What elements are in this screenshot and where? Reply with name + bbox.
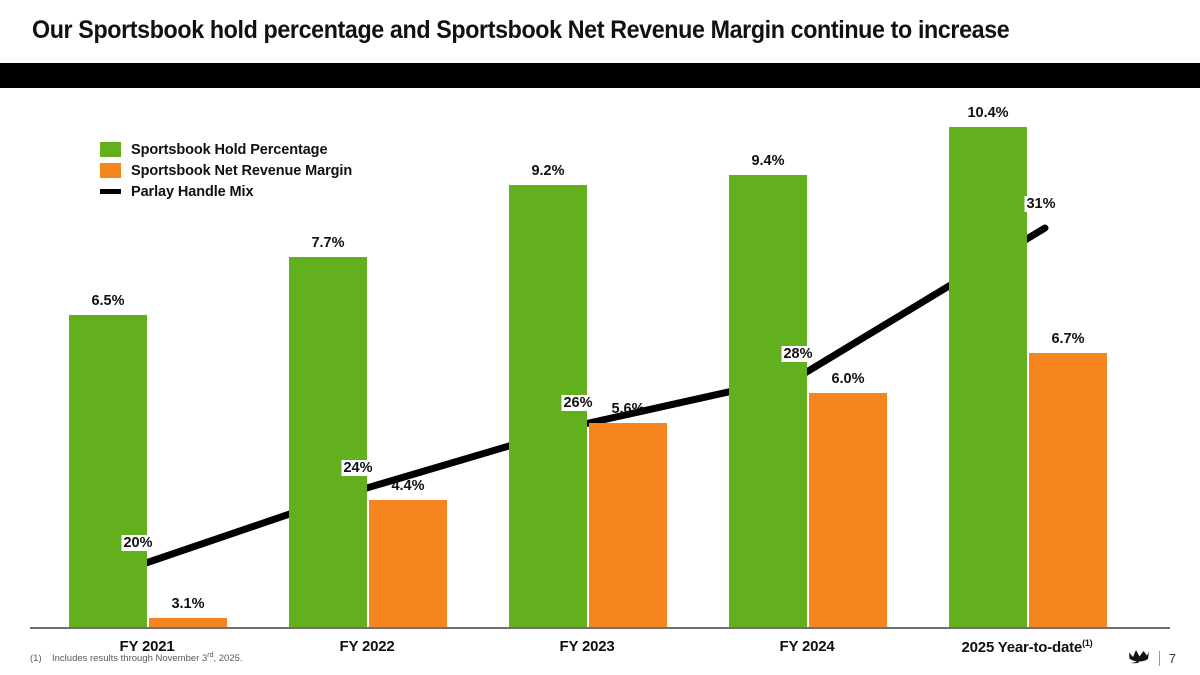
line-value-parlay-handle-mix: 28% xyxy=(781,346,814,362)
plot-area: Sportsbook Hold PercentageSportsbook Net… xyxy=(30,95,1170,628)
title-divider-bar xyxy=(0,63,1200,88)
bar-hold-percentage[interactable] xyxy=(69,315,147,628)
chart-legend: Sportsbook Hold PercentageSportsbook Net… xyxy=(100,139,430,202)
line-value-parlay-handle-mix: 24% xyxy=(341,460,374,476)
x-axis-line xyxy=(30,627,1170,629)
legend-swatch-icon xyxy=(100,142,121,157)
bar-net-revenue-margin[interactable] xyxy=(1029,353,1107,627)
x-axis-label: FY 2024 xyxy=(779,638,834,655)
bar-value-hold-percentage: 6.5% xyxy=(91,293,124,309)
bar-value-hold-percentage: 10.4% xyxy=(967,105,1008,121)
bar-value-net-revenue-margin: 3.1% xyxy=(171,596,204,612)
x-axis-label-text: 2025 Year-to-date xyxy=(962,639,1083,656)
legend-item-label: Parlay Handle Mix xyxy=(131,184,253,200)
bar-net-revenue-margin[interactable] xyxy=(809,393,887,627)
x-axis-label-text: FY 2023 xyxy=(559,638,614,655)
footnote-tail: , 2025. xyxy=(213,653,242,664)
bar-hold-percentage[interactable] xyxy=(729,175,807,627)
legend-line-icon xyxy=(100,189,121,194)
bar-value-hold-percentage: 9.4% xyxy=(751,153,784,169)
bar-hold-percentage[interactable] xyxy=(289,257,367,627)
draftkings-crown-icon xyxy=(1128,648,1150,669)
footer-right-group: 7 xyxy=(1128,648,1176,669)
x-axis-label: FY 2023 xyxy=(559,638,614,655)
x-axis-label-text: FY 2024 xyxy=(779,638,834,655)
line-value-parlay-handle-mix: 20% xyxy=(121,535,154,551)
bar-net-revenue-margin[interactable] xyxy=(369,500,447,627)
x-axis-label-footnote: (1) xyxy=(1082,638,1092,648)
footnote-marker: (1) xyxy=(30,653,52,664)
bar-value-hold-percentage: 7.7% xyxy=(311,235,344,251)
line-value-parlay-handle-mix: 26% xyxy=(561,395,594,411)
footnote: (1)Includes results through November 3rd… xyxy=(30,652,243,664)
bar-value-net-revenue-margin: 5.6% xyxy=(611,401,644,417)
page-title: Our Sportsbook hold percentage and Sport… xyxy=(32,14,1092,46)
x-axis-label: FY 2022 xyxy=(339,638,394,655)
line-value-parlay-handle-mix: 31% xyxy=(1024,196,1057,212)
legend-item-label: Sportsbook Net Revenue Margin xyxy=(131,163,352,179)
legend-net-revenue-margin[interactable]: Sportsbook Net Revenue Margin xyxy=(100,160,430,181)
bar-net-revenue-margin[interactable] xyxy=(149,618,227,627)
bar-value-net-revenue-margin: 6.7% xyxy=(1051,331,1084,347)
chart-container: Sportsbook Hold PercentageSportsbook Net… xyxy=(0,95,1200,640)
bar-value-hold-percentage: 9.2% xyxy=(531,163,564,179)
bar-value-net-revenue-margin: 4.4% xyxy=(391,478,424,494)
footnote-text: Includes results through November 3 xyxy=(52,653,207,664)
footer-divider xyxy=(1159,651,1160,666)
legend-parlay-handle-mix[interactable]: Parlay Handle Mix xyxy=(100,181,430,202)
legend-swatch-icon xyxy=(100,163,121,178)
bar-value-net-revenue-margin: 6.0% xyxy=(831,371,864,387)
legend-hold-percentage[interactable]: Sportsbook Hold Percentage xyxy=(100,139,430,160)
x-axis-label: 2025 Year-to-date(1) xyxy=(962,638,1093,656)
bar-hold-percentage[interactable] xyxy=(949,127,1027,627)
bar-net-revenue-margin[interactable] xyxy=(589,423,667,627)
legend-item-label: Sportsbook Hold Percentage xyxy=(131,142,327,158)
page-number: 7 xyxy=(1169,651,1176,666)
x-axis-label-text: FY 2022 xyxy=(339,638,394,655)
